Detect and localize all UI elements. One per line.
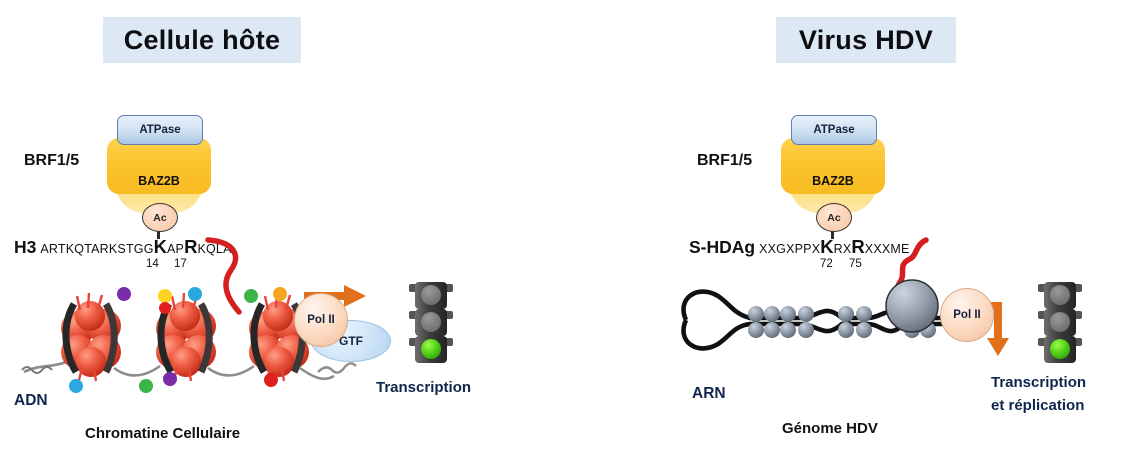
peptide-sequence-hdv: S-HDAgXXGXPPXKRXRXXXME xyxy=(689,236,910,258)
traffic-lamp-top xyxy=(1050,285,1070,305)
ac-mark-host: Ac xyxy=(142,203,178,232)
peptide-residue-k-hdv: K xyxy=(820,236,833,257)
outcome-label-hdv-line1: Transcription xyxy=(991,374,1086,391)
atpase-box-host: ATPase xyxy=(117,115,203,145)
pol2-complex-hdv: Pol II xyxy=(940,288,994,342)
panel-title-hdv: Virus HDV xyxy=(776,17,956,63)
brf-label-hdv: BRF1/5 xyxy=(697,152,752,170)
pol2-complex-host: Pol II xyxy=(294,293,348,347)
panel-hdv-virus: Virus HDV BRF1/5 ATPase BAZ2B BRD Ac S-H… xyxy=(0,0,568,449)
substrate-label-hdv: ARN xyxy=(692,385,726,403)
peptide-prefix-hdv: XXGXPPX xyxy=(759,242,820,256)
peptide-middle-hdv: RX xyxy=(834,242,852,256)
peptide-number-72-hdv: 72 xyxy=(820,258,833,270)
traffic-light-hdv xyxy=(1037,281,1083,365)
traffic-lamp-middle xyxy=(1050,312,1070,332)
peptide-protein-hdv: S-HDAg xyxy=(689,237,755,257)
traffic-lamp-bottom-green xyxy=(1050,339,1070,359)
baz2b-body-hdv: BAZ2B xyxy=(781,138,885,194)
ac-mark-hdv: Ac xyxy=(816,203,852,232)
substrate-caption-hdv: Génome HDV xyxy=(782,420,878,437)
peptide-number-75-hdv: 75 xyxy=(849,258,862,270)
peptide-residue-r-hdv: R xyxy=(851,236,864,257)
s-hdag-protein xyxy=(886,280,938,332)
atpase-box-hdv: ATPase xyxy=(791,115,877,145)
baz2b-body-host: BAZ2B xyxy=(107,138,211,194)
panel-title-hdv-text: Virus HDV xyxy=(799,25,933,56)
outcome-label-hdv-line2: et réplication xyxy=(991,397,1084,414)
